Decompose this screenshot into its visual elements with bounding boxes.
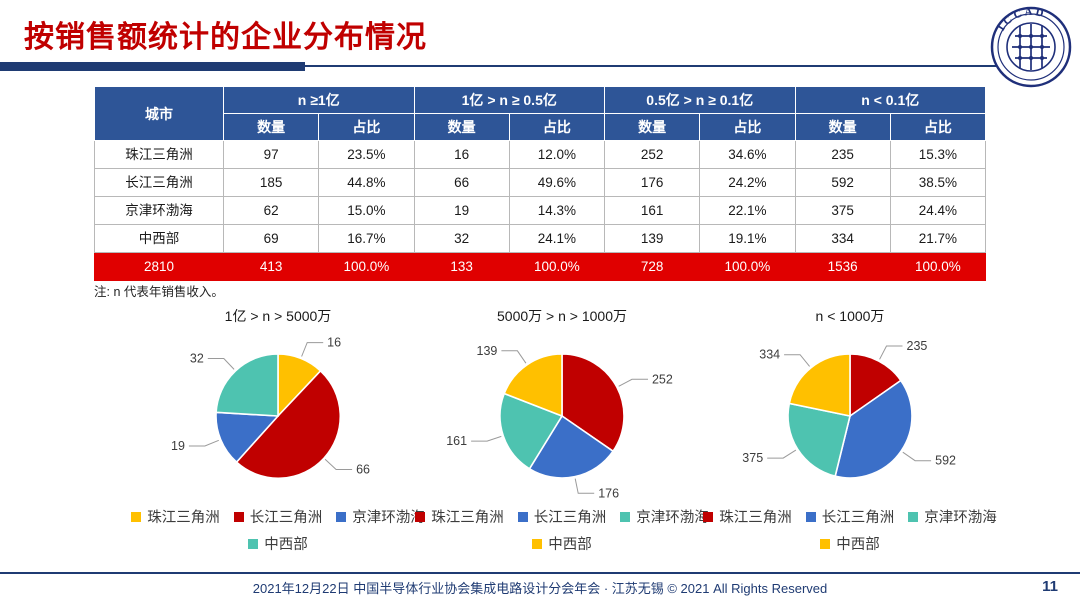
table-cell-city: 长江三角洲 bbox=[95, 169, 224, 197]
table-row: 中西部6916.7%3224.1%13919.1%33421.7% bbox=[95, 225, 986, 253]
legend-item[interactable]: 珠江三角洲 bbox=[131, 506, 220, 527]
legend-item[interactable]: 珠江三角洲 bbox=[703, 506, 792, 527]
table-cell: 21.7% bbox=[890, 225, 985, 253]
pie-data-label: 252 bbox=[652, 372, 673, 386]
pie-legend-2: 珠江三角洲长江三角洲京津环渤海中西部 bbox=[680, 506, 1020, 554]
pie-data-label: 375 bbox=[742, 451, 763, 465]
table-cell: 24.1% bbox=[509, 225, 604, 253]
table-cell: 139 bbox=[605, 225, 700, 253]
legend-swatch-icon bbox=[703, 512, 713, 522]
sub-header-8: 占比 bbox=[890, 114, 985, 141]
pie-leader-line bbox=[302, 343, 324, 357]
table-cell: 24.2% bbox=[700, 169, 795, 197]
legend-item[interactable]: 中西部 bbox=[820, 533, 880, 554]
table-cell: 24.4% bbox=[890, 197, 985, 225]
table-cell: 19.1% bbox=[700, 225, 795, 253]
pie-leader-line bbox=[575, 479, 594, 494]
page-title: 按销售额统计的企业分布情况 bbox=[24, 12, 427, 56]
legend-item[interactable]: 中西部 bbox=[532, 533, 592, 554]
pie-data-label: 16 bbox=[327, 336, 341, 350]
table-cell: 592 bbox=[795, 169, 890, 197]
table-cell: 44.8% bbox=[319, 169, 414, 197]
table-row: 京津环渤海6215.0%1914.3%16122.1%37524.4% bbox=[95, 197, 986, 225]
pie-data-label: 176 bbox=[598, 486, 619, 500]
pie-slice bbox=[216, 354, 278, 416]
legend-label: 长江三角洲 bbox=[534, 506, 607, 527]
table-total-cell: 100.0% bbox=[890, 253, 985, 281]
table-cell: 62 bbox=[224, 197, 319, 225]
pie-chart-block-2: n < 1000万 235592375334 珠江三角洲长江三角洲京津环渤海中西… bbox=[680, 306, 1020, 576]
pie-data-label: 32 bbox=[190, 352, 204, 366]
legend-label: 珠江三角洲 bbox=[431, 506, 504, 527]
sub-header-6: 占比 bbox=[700, 114, 795, 141]
pie-leader-line bbox=[903, 452, 931, 461]
table-cell: 14.3% bbox=[509, 197, 604, 225]
table-cell: 38.5% bbox=[890, 169, 985, 197]
table-cell-city: 珠江三角洲 bbox=[95, 141, 224, 169]
iccad-logo: I C C A D bbox=[990, 6, 1072, 88]
table-total-cell: 2810 bbox=[95, 253, 224, 281]
legend-swatch-icon bbox=[518, 512, 528, 522]
pie-leader-line bbox=[619, 379, 648, 386]
pie-leader-line bbox=[471, 436, 501, 441]
footer-text: 2021年12月22日 中国半导体行业协会集成电路设计分会年会 · 江苏无锡 ©… bbox=[0, 578, 1080, 597]
table-cell: 334 bbox=[795, 225, 890, 253]
table-cell: 23.5% bbox=[319, 141, 414, 169]
legend-label: 中西部 bbox=[836, 533, 880, 554]
table-total-cell: 133 bbox=[414, 253, 509, 281]
table-cell: 22.1% bbox=[700, 197, 795, 225]
legend-label: 京津环渤海 bbox=[924, 506, 997, 527]
table-cell: 185 bbox=[224, 169, 319, 197]
legend-label: 长江三角洲 bbox=[250, 506, 323, 527]
table-cell: 49.6% bbox=[509, 169, 604, 197]
table-row: 长江三角洲18544.8%6649.6%17624.2%59238.5% bbox=[95, 169, 986, 197]
table-cell: 176 bbox=[605, 169, 700, 197]
table-cell: 32 bbox=[414, 225, 509, 253]
table-total-cell: 728 bbox=[605, 253, 700, 281]
footer-divider bbox=[0, 572, 1080, 574]
table-cell: 15.0% bbox=[319, 197, 414, 225]
legend-swatch-icon bbox=[806, 512, 816, 522]
table-total-cell: 100.0% bbox=[319, 253, 414, 281]
table-total-row: 2810413100.0%133100.0%728100.0%1536100.0… bbox=[95, 253, 986, 281]
table-cell: 16.7% bbox=[319, 225, 414, 253]
table-cell: 235 bbox=[795, 141, 890, 169]
table-body: 珠江三角洲9723.5%1612.0%25234.6%23515.3%长江三角洲… bbox=[95, 141, 986, 281]
pie-leader-line bbox=[784, 355, 810, 367]
pie-leader-line bbox=[501, 351, 526, 363]
pie-chart-2: 235592375334 bbox=[680, 324, 1020, 504]
table-row: 珠江三角洲9723.5%1612.0%25234.6%23515.3% bbox=[95, 141, 986, 169]
sub-header-4: 占比 bbox=[509, 114, 604, 141]
table-group-header-row: 城市 n ≥1亿 1亿 > n ≥ 0.5亿 0.5亿 > n ≥ 0.1亿 n… bbox=[95, 87, 986, 114]
table-head: 城市 n ≥1亿 1亿 > n ≥ 0.5亿 0.5亿 > n ≥ 0.1亿 n… bbox=[95, 87, 986, 141]
legend-swatch-icon bbox=[248, 539, 258, 549]
legend-label: 中西部 bbox=[264, 533, 308, 554]
table-total-cell: 413 bbox=[224, 253, 319, 281]
legend-item[interactable]: 长江三角洲 bbox=[806, 506, 895, 527]
pie-data-label: 66 bbox=[356, 463, 370, 477]
legend-item[interactable]: 珠江三角洲 bbox=[415, 506, 504, 527]
legend-swatch-icon bbox=[131, 512, 141, 522]
group-header-2: 0.5亿 > n ≥ 0.1亿 bbox=[605, 87, 796, 114]
sub-header-7: 数量 bbox=[795, 114, 890, 141]
legend-swatch-icon bbox=[532, 539, 542, 549]
group-header-0: n ≥1亿 bbox=[224, 87, 415, 114]
group-header-3: n < 0.1亿 bbox=[795, 87, 986, 114]
pie-leader-line bbox=[325, 459, 352, 469]
sub-header-5: 数量 bbox=[605, 114, 700, 141]
legend-swatch-icon bbox=[820, 539, 830, 549]
table-cell: 252 bbox=[605, 141, 700, 169]
table-cell: 12.0% bbox=[509, 141, 604, 169]
table-cell: 19 bbox=[414, 197, 509, 225]
sub-header-2: 占比 bbox=[319, 114, 414, 141]
legend-item[interactable]: 长江三角洲 bbox=[234, 506, 323, 527]
table-total-cell: 100.0% bbox=[700, 253, 795, 281]
table-cell: 161 bbox=[605, 197, 700, 225]
legend-label: 长江三角洲 bbox=[822, 506, 895, 527]
legend-label: 珠江三角洲 bbox=[147, 506, 220, 527]
table-cell: 69 bbox=[224, 225, 319, 253]
table-cell-city: 中西部 bbox=[95, 225, 224, 253]
group-header-city: 城市 bbox=[95, 87, 224, 141]
table-cell: 375 bbox=[795, 197, 890, 225]
table-total-cell: 100.0% bbox=[509, 253, 604, 281]
pie-data-label: 334 bbox=[759, 348, 780, 362]
table-note: 注: n 代表年销售收入。 bbox=[94, 281, 224, 300]
title-underline-thick bbox=[0, 62, 305, 71]
table-total-cell: 1536 bbox=[795, 253, 890, 281]
legend-swatch-icon bbox=[336, 512, 346, 522]
pie-leader-line bbox=[880, 346, 903, 359]
sub-header-1: 数量 bbox=[224, 114, 319, 141]
table-cell: 97 bbox=[224, 141, 319, 169]
table-sub-header-row: 数量 占比 数量 占比 数量 占比 数量 占比 bbox=[95, 114, 986, 141]
legend-swatch-icon bbox=[908, 512, 918, 522]
table-cell: 34.6% bbox=[700, 141, 795, 169]
legend-swatch-icon bbox=[415, 512, 425, 522]
legend-swatch-icon bbox=[234, 512, 244, 522]
pie-chart-title-2: n < 1000万 bbox=[680, 306, 1020, 326]
pie-data-label: 592 bbox=[935, 454, 956, 468]
pie-data-label: 235 bbox=[907, 339, 928, 353]
legend-label: 中西部 bbox=[548, 533, 592, 554]
pie-leader-line bbox=[208, 359, 234, 370]
table-cell: 15.3% bbox=[890, 141, 985, 169]
table-cell-city: 京津环渤海 bbox=[95, 197, 224, 225]
legend-item[interactable]: 京津环渤海 bbox=[908, 506, 997, 527]
title-underline-thin bbox=[305, 65, 1050, 67]
page-number: 11 bbox=[1042, 578, 1058, 595]
legend-item[interactable]: 长江三角洲 bbox=[518, 506, 607, 527]
pie-data-label: 139 bbox=[477, 344, 498, 358]
legend-swatch-icon bbox=[620, 512, 630, 522]
pie-leader-line bbox=[189, 440, 219, 446]
group-header-1: 1亿 > n ≥ 0.5亿 bbox=[414, 87, 605, 114]
pie-data-label: 161 bbox=[446, 434, 467, 448]
pie-data-label: 19 bbox=[171, 439, 185, 453]
table-cell: 66 bbox=[414, 169, 509, 197]
table-cell: 16 bbox=[414, 141, 509, 169]
pie-leader-line bbox=[767, 450, 796, 458]
enterprise-distribution-table: 城市 n ≥1亿 1亿 > n ≥ 0.5亿 0.5亿 > n ≥ 0.1亿 n… bbox=[94, 86, 986, 281]
sub-header-3: 数量 bbox=[414, 114, 509, 141]
legend-label: 珠江三角洲 bbox=[719, 506, 792, 527]
legend-item[interactable]: 中西部 bbox=[248, 533, 308, 554]
